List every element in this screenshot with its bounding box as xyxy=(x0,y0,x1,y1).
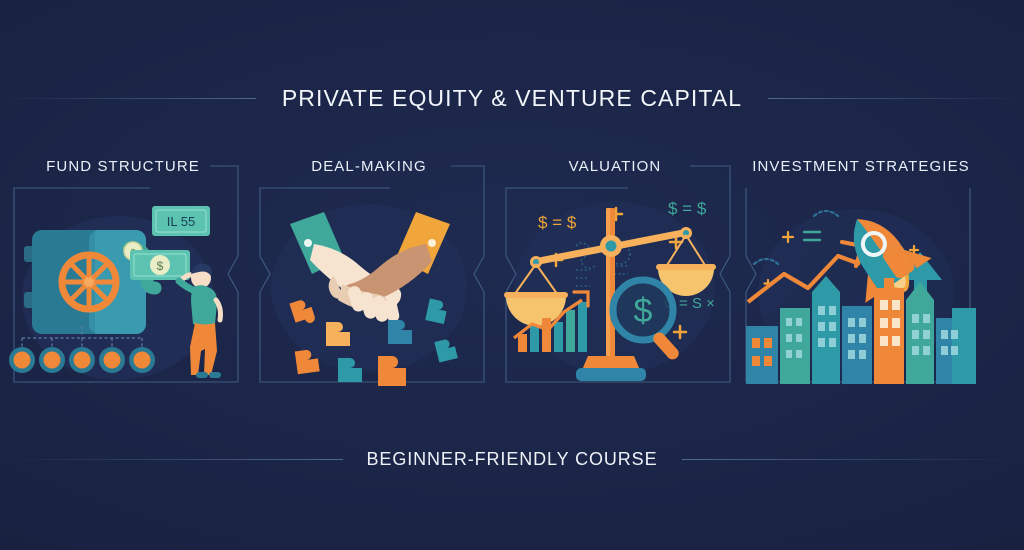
footer-divider-left xyxy=(0,459,343,460)
svg-text:$: $ xyxy=(157,259,164,273)
vault-illustration: IL 55 $ $ xyxy=(0,188,246,388)
infographic-canvas: PRIVATE EQUITY & VENTURE CAPITAL FUND ST… xyxy=(0,0,1024,550)
panel-fund-structure[interactable]: FUND STRUCTURE xyxy=(0,158,246,390)
footer-divider-right xyxy=(682,459,1024,460)
title-band: PRIVATE EQUITY & VENTURE CAPITAL xyxy=(0,78,1024,118)
rocket-city-illustration xyxy=(738,188,984,388)
panel-investment-strategies[interactable]: INVESTMENT STRATEGIES xyxy=(738,158,984,390)
panel-label-fund-structure: FUND STRUCTURE xyxy=(0,158,246,175)
title-divider-right xyxy=(768,98,1024,99)
page-title: PRIVATE EQUITY & VENTURE CAPITAL xyxy=(256,85,768,112)
footer-title: BEGINNER-FRIENDLY COURSE xyxy=(343,449,682,470)
handshake-illustration xyxy=(246,188,492,388)
panel-label-valuation: VALUATION xyxy=(492,158,738,175)
balance-scale-illustration: $ = $ $ = $ C = S × xyxy=(492,188,738,388)
panel-valuation[interactable]: VALUATION $ = $ $ = $ C = S × xyxy=(492,158,738,390)
panel-label-deal-making: DEAL-MAKING xyxy=(246,158,492,175)
panel-label-investment-strategies: INVESTMENT STRATEGIES xyxy=(738,158,984,175)
formula-right: $ = $ xyxy=(668,199,707,218)
title-divider-left xyxy=(0,98,256,99)
footer-band: BEGINNER-FRIENDLY COURSE xyxy=(0,440,1024,478)
panel-row: FUND STRUCTURE xyxy=(0,158,1024,390)
panel-deal-making[interactable]: DEAL-MAKING xyxy=(246,158,492,390)
banknote-top-text: IL 55 xyxy=(167,214,195,229)
formula-left: $ = $ xyxy=(538,213,577,232)
magnifier-symbol: $ xyxy=(634,292,653,330)
